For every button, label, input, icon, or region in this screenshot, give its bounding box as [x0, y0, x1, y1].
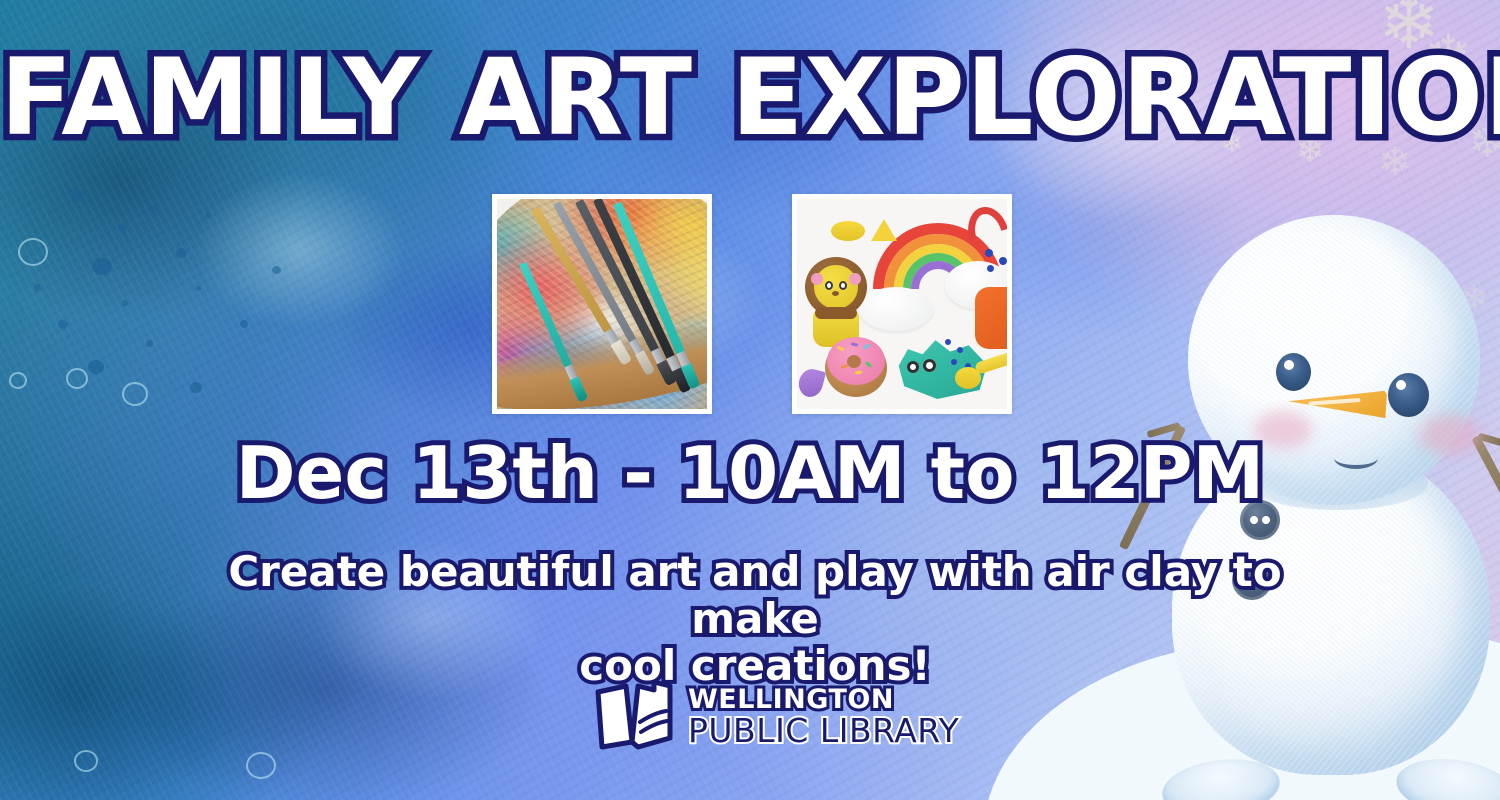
clay-blue-dot [987, 265, 994, 272]
library-logo: WELLINGTON PUBLIC LIBRARY [592, 676, 959, 756]
description-line-1: Create beautiful art and play with air c… [170, 548, 1340, 642]
event-description: Create beautiful art and play with air c… [170, 548, 1340, 689]
clay-yellow-disc [831, 221, 865, 241]
snowman-eye [1388, 373, 1429, 417]
event-poster: ❄ ❄ ❄ ❄ ❄ ❄ ❄ ❄ [0, 0, 1500, 800]
air-clay-creations-photo [792, 194, 1012, 414]
open-book-icon [592, 676, 676, 756]
clay-donut [825, 339, 887, 397]
logo-wordmark: WELLINGTON PUBLIC LIBRARY [688, 686, 959, 747]
clay-blue-dot [985, 249, 993, 257]
snowman-foot [1393, 752, 1500, 800]
clay-dinosaur [889, 325, 987, 401]
event-datetime: Dec 13th - 10AM to 12PM [0, 436, 1500, 512]
paint-palette-photo [492, 194, 712, 414]
page-title: FAMILY ART EXPLORATION [0, 42, 1500, 153]
snowman-eye [1276, 353, 1311, 391]
logo-line-public-library: PUBLIC LIBRARY [688, 714, 959, 747]
clay-blue-dot [999, 257, 1007, 265]
logo-line-wellington: WELLINGTON [688, 686, 959, 713]
clay-orange-disc [975, 287, 1007, 349]
clay-purple-bit [797, 367, 826, 400]
clay-lion [805, 257, 867, 347]
